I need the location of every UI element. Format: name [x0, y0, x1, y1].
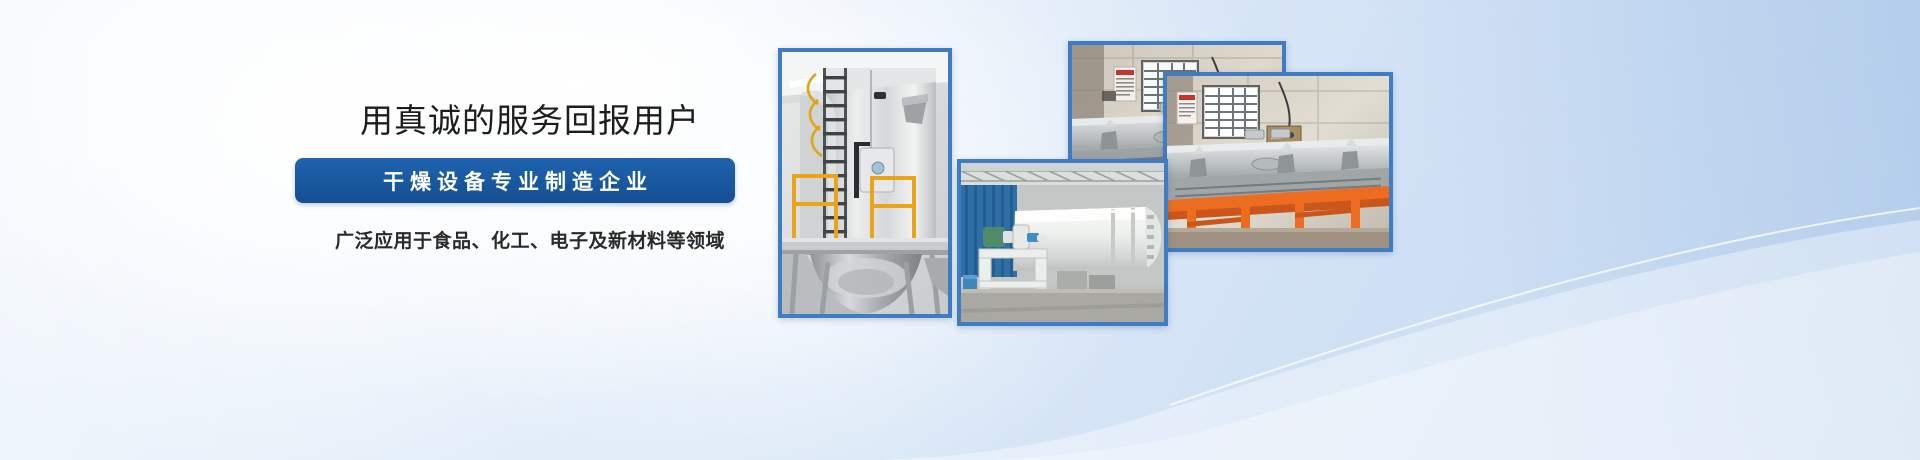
background-shade-right — [1300, 0, 1920, 460]
banner-subtitle: 广泛应用于食品、化工、电子及新材料等领域 — [295, 226, 765, 253]
photo-spray-dryer-tower — [778, 48, 952, 318]
banner-headline: 用真诚的服务回报用户 — [295, 104, 765, 137]
slogan-bar: 干燥设备专业制造企业 — [295, 158, 735, 203]
photo-vibrating-fluid-bed-dryer — [1163, 72, 1393, 252]
photo-ribbon-mixer-tank — [957, 159, 1168, 326]
slogan-bar-label: 干燥设备专业制造企业 — [377, 166, 653, 196]
banner-text-block: 用真诚的服务回报用户 干燥设备专业制造企业 广泛应用于食品、化工、电子及新材料等… — [295, 104, 765, 253]
promo-banner: 用真诚的服务回报用户 干燥设备专业制造企业 广泛应用于食品、化工、电子及新材料等… — [0, 0, 1920, 460]
